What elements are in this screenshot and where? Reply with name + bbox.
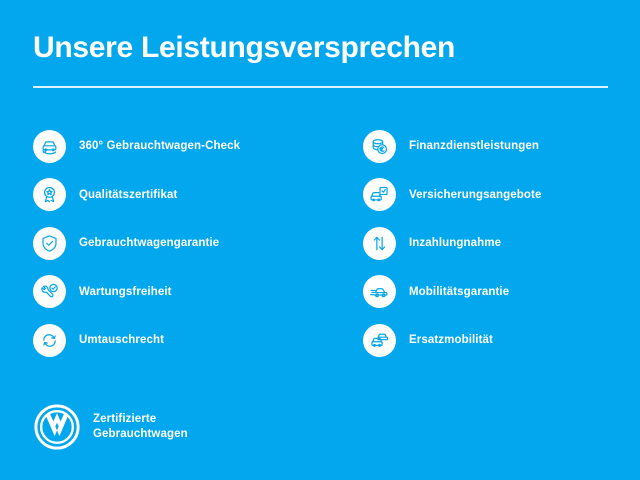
brand-text: Zertifizierte Gebrauchtwagen: [93, 412, 188, 442]
promise-label: Wartungsfreiheit: [79, 286, 172, 298]
up-down-arrows-icon: [363, 227, 396, 260]
award-rosette-icon: [33, 178, 66, 211]
promise-item: Finanzdienstleistungen: [363, 122, 633, 171]
promise-label: Inzahlungnahme: [409, 237, 501, 249]
title-divider: [33, 86, 608, 88]
shield-check-icon: [33, 227, 66, 260]
promise-item: Versicherungsangebote: [363, 171, 633, 220]
promise-item: Umtauschrecht: [33, 316, 353, 365]
two-cars-icon: [363, 324, 396, 357]
coins-euro-icon: [363, 130, 396, 163]
car-360-check-icon: [33, 130, 66, 163]
page-title: Unsere Leistungsversprechen: [33, 30, 608, 66]
volkswagen-logo: [33, 403, 81, 451]
promise-item: Mobilitätsgarantie: [363, 268, 633, 317]
promise-item: Ersatzmobilität: [363, 316, 633, 365]
promise-item: Wartungsfreiheit: [33, 268, 353, 317]
promise-column-right: Finanzdienstleistungen Versicherungsange…: [363, 122, 633, 365]
exchange-arrows-icon: [33, 324, 66, 357]
promise-poster: Unsere Leistungsversprechen 360° Gebrauc…: [0, 0, 640, 480]
promise-item: Gebrauchtwagengarantie: [33, 219, 353, 268]
brand-lockup: Zertifizierte Gebrauchtwagen: [33, 403, 188, 451]
promise-label: Ersatzmobilität: [409, 334, 493, 346]
promise-item: 360° Gebrauchtwagen-Check: [33, 122, 353, 171]
brand-text-line1: Zertifizierte: [93, 412, 188, 427]
brand-text-line2: Gebrauchtwagen: [93, 427, 188, 442]
promise-label: Mobilitätsgarantie: [409, 286, 509, 298]
promise-label: 360° Gebrauchtwagen-Check: [79, 140, 240, 152]
promise-columns: 360° Gebrauchtwagen-Check Qualitätszerti…: [0, 122, 640, 365]
promise-label: Finanzdienstleistungen: [409, 140, 539, 152]
promise-item: Qualitätszertifikat: [33, 171, 353, 220]
promise-label: Qualitätszertifikat: [79, 189, 177, 201]
promise-label: Gebrauchtwagengarantie: [79, 237, 219, 249]
promise-item: Inzahlungnahme: [363, 219, 633, 268]
car-motion-icon: [363, 275, 396, 308]
wrench-check-icon: [33, 275, 66, 308]
promise-label: Umtauschrecht: [79, 334, 164, 346]
car-document-check-icon: [363, 178, 396, 211]
promise-label: Versicherungsangebote: [409, 189, 541, 201]
promise-column-left: 360° Gebrauchtwagen-Check Qualitätszerti…: [33, 122, 353, 365]
header: Unsere Leistungsversprechen: [33, 30, 608, 66]
